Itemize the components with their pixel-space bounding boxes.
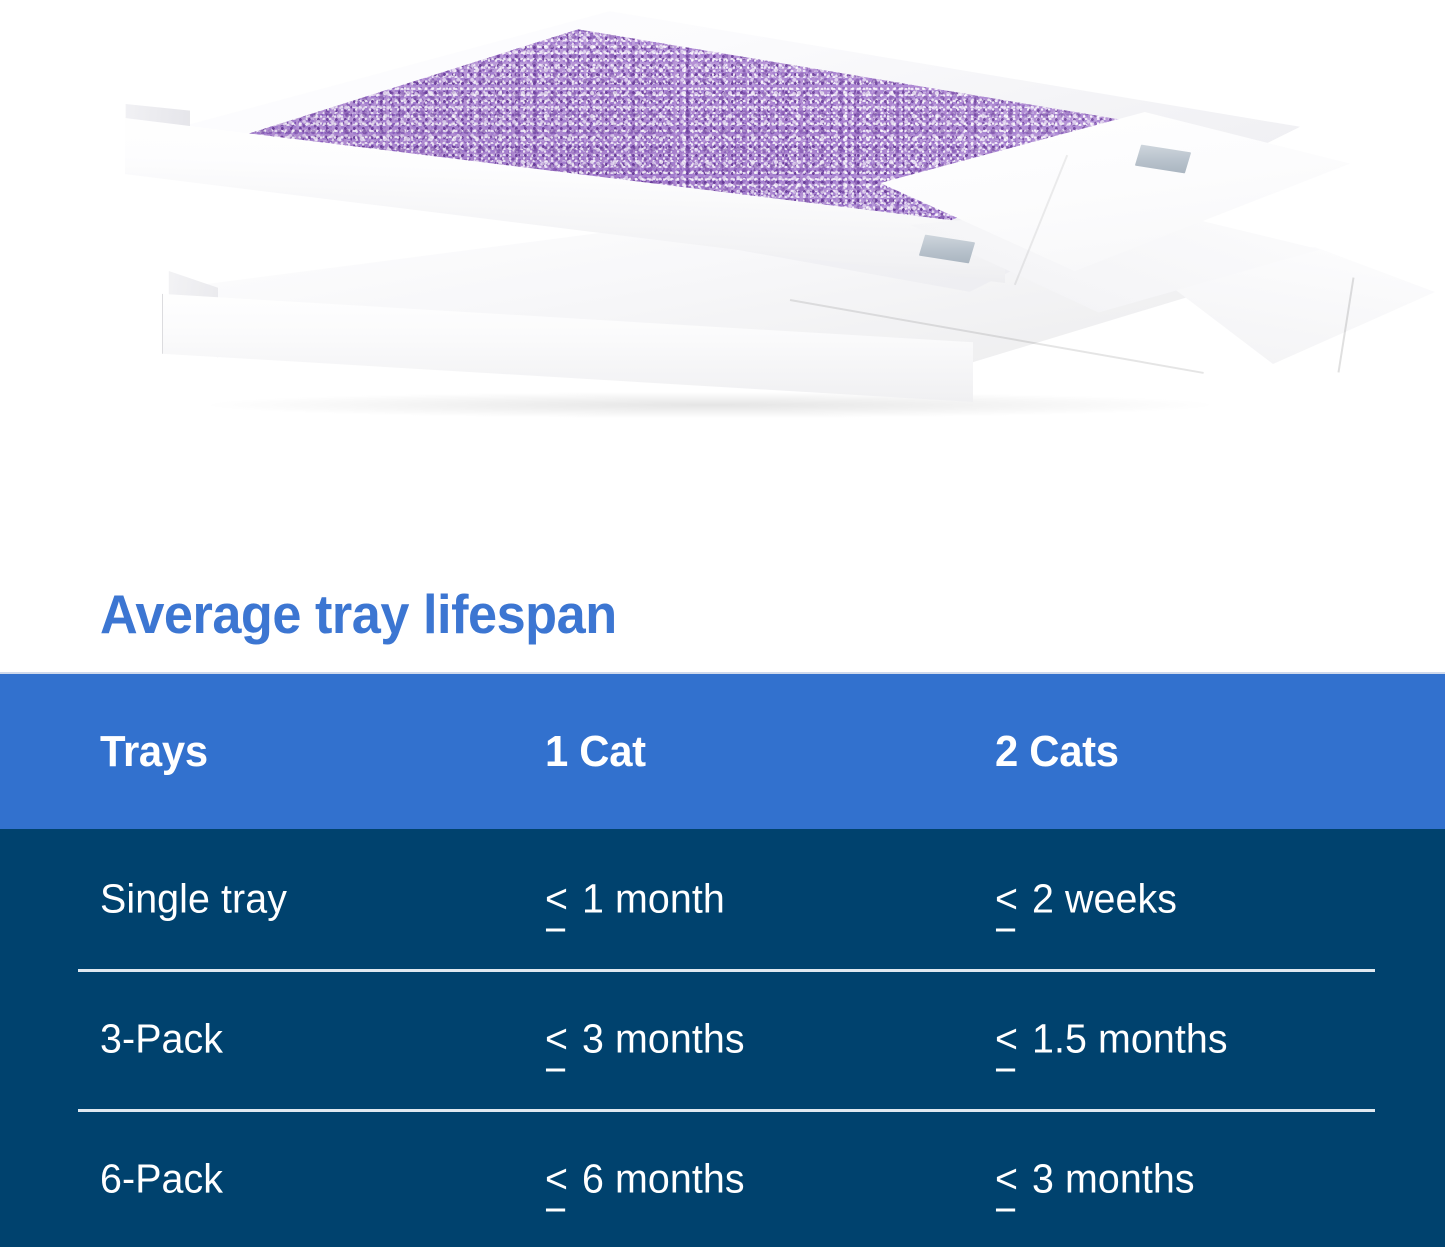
less-than-or-equal-icon: <: [545, 1156, 571, 1203]
less-than-or-equal-icon: <: [545, 876, 571, 923]
infographic-page: Average tray lifespan Trays 1 Cat 2 Cats…: [0, 0, 1445, 1247]
lifespan-value: 6 months: [582, 1156, 745, 1202]
less-than-or-equal-icon: <: [995, 876, 1021, 923]
table-row: 6-Pack < 6 months < 3 months: [0, 1109, 1445, 1247]
photo-stage: [0, 0, 1445, 540]
lte-glyph: <: [995, 1016, 1018, 1062]
lte-glyph: <: [545, 1156, 568, 1202]
lte-glyph: <: [995, 876, 1018, 922]
cell-2-cats-lifespan: < 1.5 months: [995, 1016, 1228, 1063]
lifespan-value: 1 month: [582, 876, 725, 922]
lifespan-value: 2 weeks: [1032, 876, 1177, 922]
table-row: Single tray < 1 month < 2 weeks: [0, 829, 1445, 969]
table-header-row: Trays 1 Cat 2 Cats: [0, 672, 1445, 829]
cell-tray-type: Single tray: [100, 876, 287, 923]
lte-underbar: [546, 1209, 565, 1212]
lte-glyph: <: [545, 1016, 568, 1062]
less-than-or-equal-icon: <: [995, 1156, 1021, 1203]
upper-litter-tray: [120, 8, 1300, 408]
lte-glyph: <: [545, 876, 568, 922]
column-header-2-cats: 2 Cats: [995, 727, 1119, 777]
lte-underbar: [546, 1069, 565, 1072]
cell-2-cats-lifespan: < 2 weeks: [995, 876, 1177, 923]
lifespan-value: 3 months: [1032, 1156, 1195, 1202]
cell-tray-type: 3-Pack: [100, 1016, 223, 1063]
title-band: Average tray lifespan: [0, 540, 1445, 672]
lifespan-table: Trays 1 Cat 2 Cats Single tray < 1 month…: [0, 672, 1445, 1247]
lte-underbar: [996, 1209, 1015, 1212]
product-photo: [0, 0, 1445, 540]
lifespan-value: 1.5 months: [1032, 1016, 1228, 1062]
table-body: Single tray < 1 month < 2 weeks 3-Pack <…: [0, 829, 1445, 1247]
lte-glyph: <: [995, 1156, 1018, 1202]
lte-underbar: [546, 929, 565, 932]
cell-2-cats-lifespan: < 3 months: [995, 1156, 1195, 1203]
lte-underbar: [996, 929, 1015, 932]
less-than-or-equal-icon: <: [995, 1016, 1021, 1063]
lte-underbar: [996, 1069, 1015, 1072]
lifespan-value: 3 months: [582, 1016, 745, 1062]
cell-1-cat-lifespan: < 3 months: [545, 1016, 745, 1063]
cell-1-cat-lifespan: < 6 months: [545, 1156, 745, 1203]
table-row: 3-Pack < 3 months < 1.5 months: [0, 969, 1445, 1109]
less-than-or-equal-icon: <: [545, 1016, 571, 1063]
page-title: Average tray lifespan: [100, 582, 617, 646]
column-header-trays: Trays: [100, 727, 208, 777]
cell-1-cat-lifespan: < 1 month: [545, 876, 725, 923]
column-header-1-cat: 1 Cat: [545, 727, 646, 777]
cell-tray-type: 6-Pack: [100, 1156, 223, 1203]
